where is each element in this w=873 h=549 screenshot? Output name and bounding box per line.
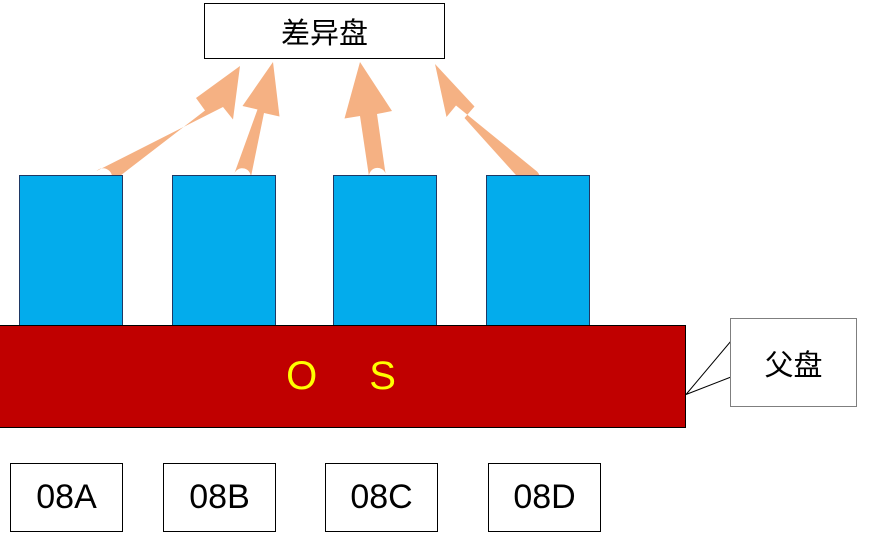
arrow-block-b-to-diff-disk: [234, 62, 280, 179]
id-box-08c: 08C: [325, 463, 438, 532]
differential-disk-label-box: 差异盘: [204, 3, 445, 59]
os-bar-text-o: O: [286, 354, 317, 399]
arrow-block-d-to-diff-disk: [435, 64, 540, 187]
parent-disk-os-bar: O S: [0, 325, 686, 428]
id-box-08a: 08A: [10, 463, 123, 532]
parent-disk-label-box: 父盘: [730, 318, 857, 407]
diff-block-d: [486, 175, 590, 327]
id-box-label: 08C: [350, 478, 412, 517]
diagram-canvas: 差异盘 O S 父盘 08A 08B 08C 08D: [0, 0, 873, 549]
diff-block-b: [172, 175, 276, 327]
id-box-08b: 08B: [163, 463, 276, 532]
callout-leader-parent-disk: [686, 341, 731, 395]
id-box-label: 08B: [189, 478, 250, 517]
arrow-block-c-to-diff-disk: [345, 62, 393, 177]
id-box-label: 08D: [513, 478, 575, 517]
diff-block-a: [19, 175, 123, 327]
differential-disk-label: 差异盘: [281, 10, 368, 52]
arrow-block-a-to-diff-disk: [97, 66, 241, 184]
id-box-label: 08A: [36, 478, 97, 517]
os-bar-text-s: S: [369, 354, 396, 399]
parent-disk-label: 父盘: [764, 342, 822, 384]
id-box-08d: 08D: [488, 463, 601, 532]
diff-block-c: [333, 175, 437, 327]
os-bar-text: O S: [0, 326, 685, 427]
